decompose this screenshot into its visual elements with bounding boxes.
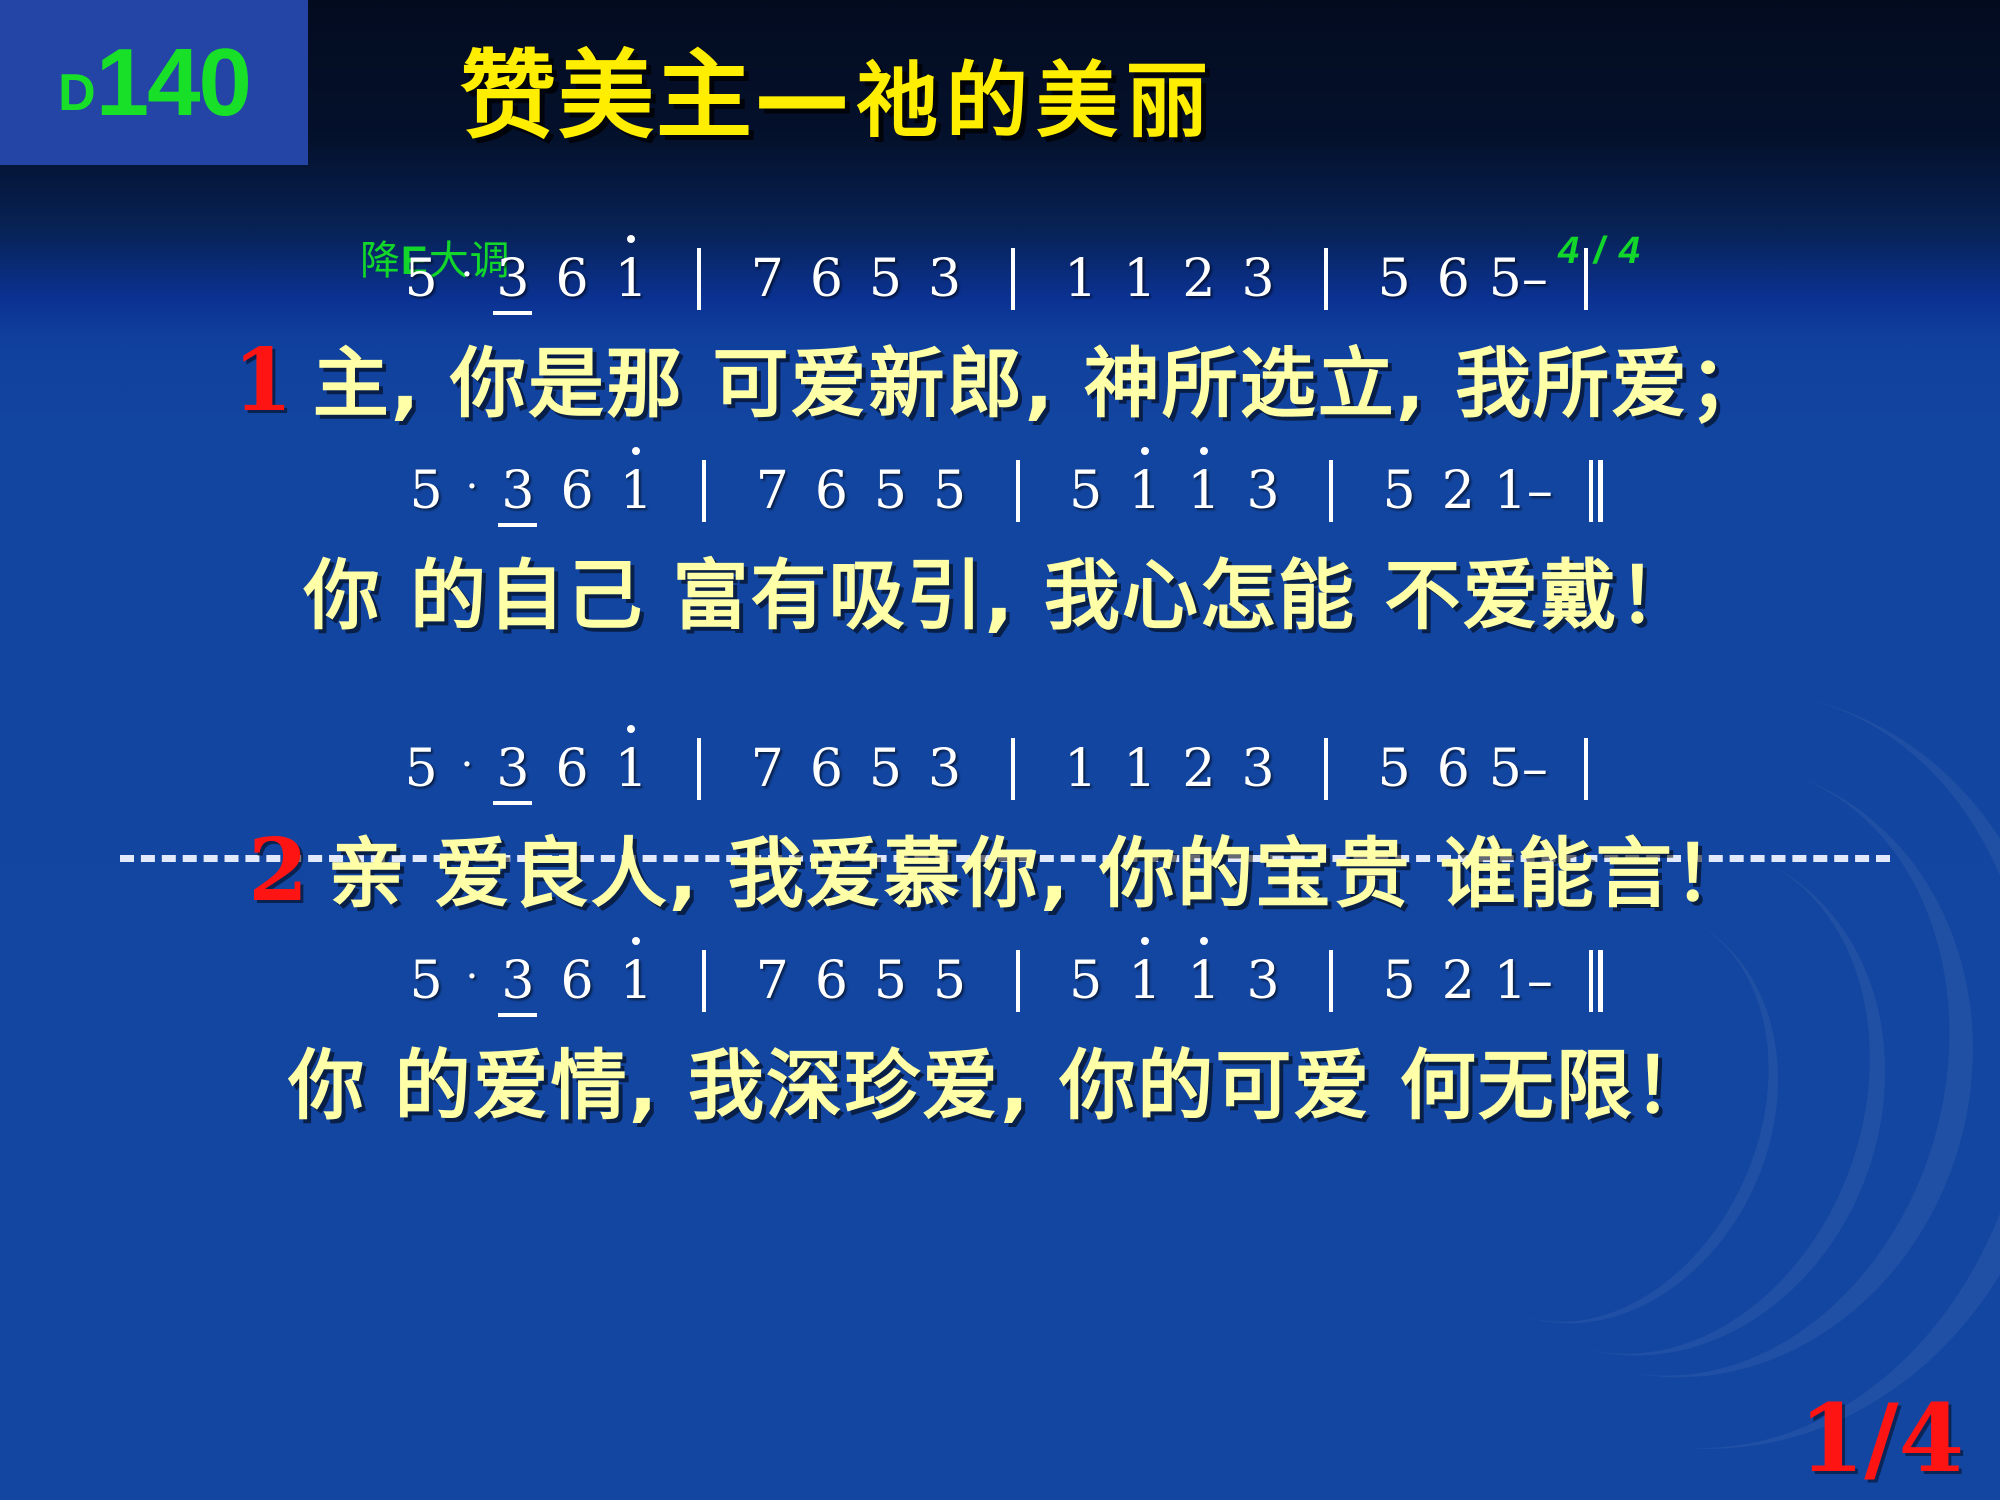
note-octave-up: 1	[607, 951, 666, 1011]
note: 5	[856, 739, 915, 799]
augmentation-dot: ·	[451, 252, 484, 298]
measure: 5·361	[397, 951, 666, 1011]
note: 3	[1228, 739, 1287, 799]
barline	[697, 738, 701, 800]
hymn-number-value: 140	[96, 35, 250, 131]
note: 5	[1365, 739, 1424, 799]
note: 2	[1429, 951, 1488, 1011]
notation-row: 5·361 7655 5113 521–	[0, 460, 2000, 522]
lyric-text: 你 的爱情, 我深珍爱, 你的可爱 何无限！	[288, 1041, 1712, 1130]
barline	[1329, 950, 1333, 1012]
measure: 1123	[1051, 249, 1287, 309]
notation-row: 5·361 7653 1123 565–	[0, 738, 2000, 800]
note-octave-up: 1	[602, 739, 661, 799]
hymn-number-prefix: D	[58, 67, 96, 119]
measure: 5·361	[392, 249, 661, 309]
note: 5	[920, 461, 979, 521]
note: 5	[856, 249, 915, 309]
octave-dot-icon	[1141, 937, 1149, 945]
note: 6	[797, 739, 856, 799]
page-title: 赞美主—祂的美丽	[460, 48, 1216, 144]
note: 3	[483, 739, 542, 799]
hymn-slide: D140 赞美主—祂的美丽 降E大调 4 / 4 5·361 7653 1123…	[0, 0, 2000, 1500]
note: 1	[1488, 461, 1533, 521]
lyric-text: 亲 爱良人, 我爱慕你, 你的宝贵 谁能言！	[328, 829, 1752, 918]
note: 5	[861, 951, 920, 1011]
note: 5	[397, 461, 456, 521]
octave-dot-icon	[632, 447, 640, 455]
note: 1	[1051, 739, 1110, 799]
note-digit: 1	[1128, 461, 1161, 521]
note: 7	[743, 461, 802, 521]
note: 6	[1424, 739, 1483, 799]
octave-dot-icon	[1200, 937, 1208, 945]
lyric-text: 主, 你是那 可爱新郎, 神所选立, 我所爱；	[313, 339, 1767, 428]
note: 5	[1483, 249, 1528, 309]
measure: 1123	[1051, 739, 1287, 799]
octave-dot-icon	[632, 937, 640, 945]
lyric-row: 你 的爱情, 我深珍爱, 你的可爱 何无限！	[0, 1024, 2000, 1134]
note-octave-up: 1	[1115, 951, 1174, 1011]
barline	[1324, 248, 1328, 310]
note: 1	[1110, 739, 1169, 799]
octave-dot-icon	[627, 725, 635, 733]
barline	[1584, 738, 1588, 800]
song-title-main: 赞美主—	[460, 40, 852, 152]
note: 7	[743, 951, 802, 1011]
note: 6	[547, 461, 606, 521]
note-octave-up: 1	[1174, 951, 1233, 1011]
barline	[702, 950, 706, 1012]
note-digit: 1	[620, 461, 653, 521]
note: 3	[1233, 951, 1292, 1011]
barline	[697, 248, 701, 310]
note: 5	[861, 461, 920, 521]
note: 5	[397, 951, 456, 1011]
note: 3	[915, 249, 974, 309]
measure: 5113	[1056, 461, 1292, 521]
note: 6	[802, 461, 861, 521]
note: 2	[1169, 249, 1228, 309]
measure: 7655	[743, 461, 979, 521]
note: 1	[1110, 249, 1169, 309]
note: 6	[802, 951, 861, 1011]
barline	[1016, 950, 1020, 1012]
measure: 7655	[743, 951, 979, 1011]
final-barline	[1589, 460, 1603, 522]
augmentation-dot: ·	[456, 954, 489, 1000]
note-digit: 1	[620, 951, 653, 1011]
note: 1	[1488, 951, 1533, 1011]
octave-dot-icon	[1141, 447, 1149, 455]
note-octave-up: 1	[602, 249, 661, 309]
measure: 5·361	[392, 739, 661, 799]
measure: 7653	[738, 739, 974, 799]
notation-row: 5·361 7655 5113 521–	[0, 950, 2000, 1012]
note: 3	[915, 739, 974, 799]
note: 6	[1424, 249, 1483, 309]
lyric-row: 你 的自己 富有吸引, 我心怎能 不爱戴！	[0, 534, 2000, 644]
measure: 7653	[738, 249, 974, 309]
barline	[1011, 248, 1015, 310]
barline	[1016, 460, 1020, 522]
page-indicator: 1/4	[1799, 1384, 1964, 1494]
note: 6	[542, 249, 601, 309]
note: 5	[1370, 461, 1429, 521]
final-barline	[1589, 950, 1603, 1012]
note-digit: 1	[1187, 461, 1220, 521]
note: 5	[1365, 249, 1424, 309]
note: 5	[392, 739, 451, 799]
note-octave-up: 1	[1115, 461, 1174, 521]
measure: 5·361	[397, 461, 666, 521]
octave-dot-icon	[627, 235, 635, 243]
augmentation-dot: ·	[451, 742, 484, 788]
note: 7	[738, 249, 797, 309]
measure: 5113	[1056, 951, 1292, 1011]
verse-number: 1	[233, 330, 295, 431]
note: 2	[1169, 739, 1228, 799]
song-title-subtitle: 祂的美丽	[856, 53, 1216, 149]
note-octave-up: 1	[607, 461, 666, 521]
barline	[1011, 738, 1015, 800]
note: 5	[920, 951, 979, 1011]
note: 6	[547, 951, 606, 1011]
octave-dot-icon	[1200, 447, 1208, 455]
note-digit: 1	[1128, 951, 1161, 1011]
measure: 521–	[1370, 461, 1553, 521]
note: 1	[1051, 249, 1110, 309]
lyric-row: 2亲 爱良人, 我爱慕你, 你的宝贵 谁能言！	[0, 812, 2000, 922]
note: 3	[488, 951, 547, 1011]
lyric-text: 你 的自己 富有吸引, 我心怎能 不爱戴！	[304, 551, 1697, 640]
note: 7	[738, 739, 797, 799]
note: 5	[1483, 739, 1528, 799]
verse-number: 2	[248, 820, 310, 921]
note-octave-up: 1	[1174, 461, 1233, 521]
note: 6	[542, 739, 601, 799]
notation-row: 5·361 7653 1123 565–	[0, 248, 2000, 310]
barline	[1584, 248, 1588, 310]
hymn-number-badge: D140	[0, 0, 308, 165]
note-digit: 1	[615, 249, 648, 309]
note: 6	[797, 249, 856, 309]
augmentation-dot: ·	[456, 464, 489, 510]
measure: 521–	[1370, 951, 1553, 1011]
note: 3	[1233, 461, 1292, 521]
note-digit: 1	[1187, 951, 1220, 1011]
barline	[1324, 738, 1328, 800]
note-digit: 1	[615, 739, 648, 799]
note: 5	[1056, 461, 1115, 521]
barline	[702, 460, 706, 522]
note: 3	[483, 249, 542, 309]
measure: 565–	[1365, 249, 1548, 309]
note: 5	[392, 249, 451, 309]
note: 2	[1429, 461, 1488, 521]
measure: 565–	[1365, 739, 1548, 799]
note: 5	[1056, 951, 1115, 1011]
note: 3	[1228, 249, 1287, 309]
lyric-row: 1主, 你是那 可爱新郎, 神所选立, 我所爱；	[0, 322, 2000, 432]
note: 3	[488, 461, 547, 521]
barline	[1329, 460, 1333, 522]
note: 5	[1370, 951, 1429, 1011]
